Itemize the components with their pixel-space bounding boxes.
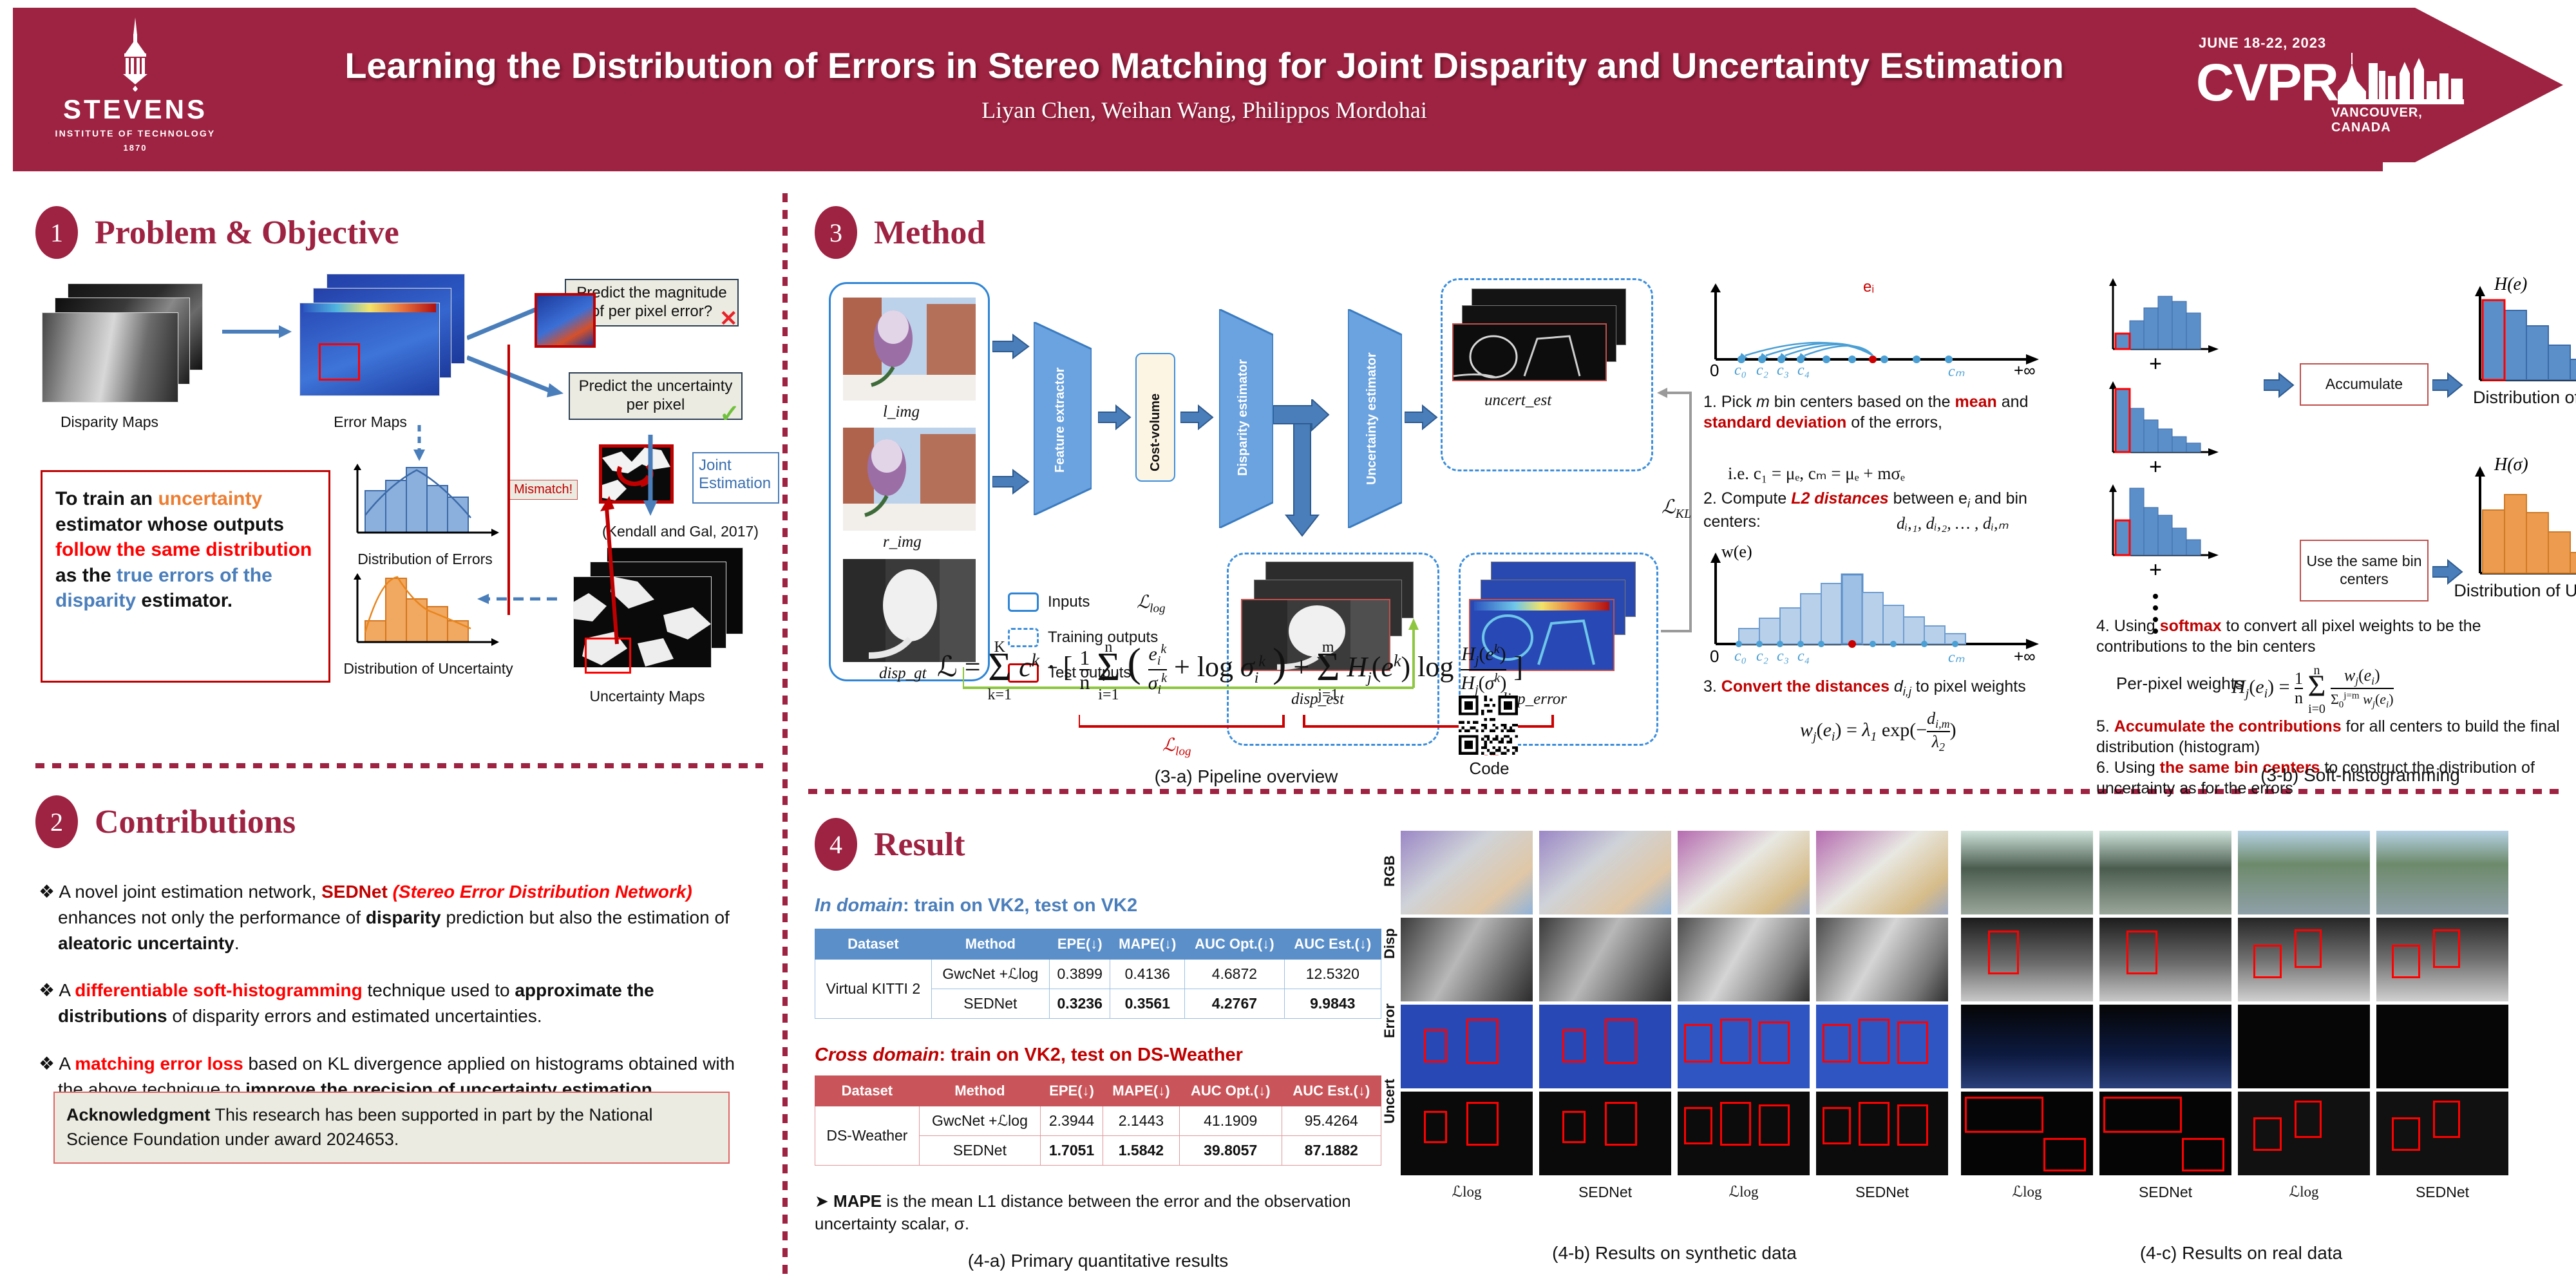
thumb-disp-s1 <box>1401 918 1533 1001</box>
svg-text:+: + <box>2149 455 2162 479</box>
row-label-disp: Disp <box>1381 911 1398 976</box>
mape-marker: ➤ <box>815 1191 829 1211</box>
caption-real-results: (4-c) Results on real data <box>1967 1243 2515 1264</box>
bullet-0-seg-4: disparity <box>366 907 441 927</box>
arrow-to-accumulate-icon <box>2264 372 2295 398</box>
bullet-marker: ❖ <box>39 882 59 902</box>
thumb-disp-s2 <box>1539 918 1671 1001</box>
soft-hist-step-5: 5. Accumulate the contributions for all … <box>2096 716 2576 757</box>
error-maps-stack <box>299 274 473 412</box>
thumb-uncert-r3 <box>2238 1092 2370 1175</box>
horizontal-divider-1 <box>35 763 763 768</box>
col-label-0: ℒlog <box>1401 1184 1533 1200</box>
table-row: DS-Weather GwcNet +ℒlog 2.3944 2.1443 41… <box>815 1106 1381 1136</box>
table2-r1-v3: 87.1882 <box>1282 1136 1381 1166</box>
table2-r1-v2: 39.8057 <box>1179 1136 1282 1166</box>
header-text-block: Learning the Distribution of Errors in S… <box>232 46 2196 124</box>
table2-r1-method: SEDNet <box>919 1136 1040 1166</box>
svg-text:+: + <box>2149 352 2162 376</box>
loss-log-underlabel: ℒlog <box>1162 734 1191 759</box>
bullet-0-seg-5: prediction but also the estimation of <box>441 907 730 927</box>
thumb-rgb-r1 <box>1961 831 2093 914</box>
chart-uncertainty-caption: Distribution of Uncertainty <box>338 660 518 677</box>
caption-quantitative-results: (4-a) Primary quantitative results <box>853 1251 1343 1271</box>
section4-number: 4 <box>815 818 857 871</box>
step-1-seg-0: Pick <box>1721 393 1756 411</box>
vancouver-skyline-icon <box>2338 52 2473 104</box>
step-1-seg-5: standard deviation <box>1703 413 1846 431</box>
thumb-uncert-s1 <box>1401 1092 1533 1175</box>
arrow-limg-icon <box>992 332 1030 361</box>
thumb-uncert-r4 <box>2376 1092 2508 1175</box>
goal-p5: as the <box>55 565 117 586</box>
bullet-1-seg-0: A <box>59 980 75 1000</box>
disp-gt-caption: disp_gt <box>879 665 927 683</box>
thumb-rgb-s3 <box>1678 831 1810 914</box>
thumb-error-r1 <box>1961 1005 2093 1088</box>
thumb-error-s1 <box>1401 1005 1533 1088</box>
disparity-maps-stack <box>42 283 209 412</box>
soft-hist-step-2: 2. Compute L2 distances between ei and b… <box>1703 488 2077 532</box>
section3-heading: 3 Method <box>815 206 985 259</box>
caption-pipeline-overview: (3-a) Pipeline overview <box>1085 766 1407 787</box>
bullet-0-seg-1: SEDNet <box>321 882 392 902</box>
section4-heading: 4 Result <box>815 818 965 871</box>
step-number-2: 2. <box>1703 489 1721 507</box>
objective-text-box: To train an uncertainty estimator whose … <box>41 470 330 683</box>
axis-tick-c2-top: c₂ <box>1756 362 1768 379</box>
code-label: Code <box>1443 759 1536 779</box>
table-in-domain: Dataset Method EPE(↓) MAPE(↓) AUC Opt.(↓… <box>815 929 1381 1019</box>
poster-header: STEVENS INSTITUTE OF TECHNOLOGY 1870 Lea… <box>13 8 2563 162</box>
thumb-error-r4 <box>2376 1005 2508 1088</box>
thumb-uncert-s3 <box>1678 1092 1810 1175</box>
section1-heading: 1 Problem & Objective <box>35 206 399 259</box>
accumulate-box: Accumulate <box>2300 363 2429 406</box>
arrow-split-icon <box>1273 399 1347 541</box>
goal-uncertainty: uncertainty <box>158 488 262 509</box>
table1-header-row: Dataset Method EPE(↓) MAPE(↓) AUC Opt.(↓… <box>815 929 1381 960</box>
table2-th-3: MAPE(↓) <box>1103 1076 1180 1106</box>
table-cross-domain: Dataset Method EPE(↓) MAPE(↓) AUC Opt.(↓… <box>815 1075 1381 1166</box>
check-mark-icon: ✓ <box>719 399 740 428</box>
section4-title: Result <box>874 826 965 864</box>
table1-r1-v0: 0.3236 <box>1050 989 1110 1019</box>
step-number-1: 1. <box>1703 393 1721 411</box>
dist-uncert-label: Distribution of Uncertainty <box>2438 581 2576 601</box>
table2-th-1: Method <box>919 1076 1040 1106</box>
thumb-disp-r3 <box>2238 918 2370 1001</box>
chart-h-sigma <box>2463 464 2576 596</box>
bin-centers-axis-chart <box>1700 283 2048 390</box>
chart-h-e <box>2463 283 2576 402</box>
step-6-seg-0: Using <box>2114 759 2160 777</box>
section2-title: Contributions <box>95 803 296 841</box>
list-item: ❖ A differentiable soft-histogramming te… <box>39 978 760 1029</box>
chart-distribution-uncertainty <box>345 573 506 663</box>
goal-p1: To train an <box>55 488 158 509</box>
col-label-5: SEDNet <box>2099 1184 2231 1201</box>
caption-synthetic-results: (4-b) Results on synthetic data <box>1394 1243 1955 1264</box>
thumb-rgb-r4 <box>2376 831 2508 914</box>
h-e-label: H(e) <box>2494 274 2527 295</box>
loss-kl-label: ℒKL <box>1662 496 1691 522</box>
table1-r0-v0: 0.3899 <box>1050 960 1110 989</box>
table2-header-row: Dataset Method EPE(↓) MAPE(↓) AUC Opt.(↓… <box>815 1076 1381 1106</box>
contributions-list: ❖ A novel joint estimation network, SEDN… <box>39 879 760 1124</box>
bullet-2-seg-1: matching error loss <box>75 1054 243 1074</box>
step-2-seg-0: Compute <box>1721 489 1791 507</box>
uncert-est-thumb-1 <box>1452 323 1607 381</box>
feature-extractor-label: Feature extractor <box>1053 349 1067 491</box>
col-label-7: SEDNet <box>2376 1184 2508 1201</box>
col-label-6: ℒlog <box>2238 1184 2370 1200</box>
table1-r0-method: GwcNet +ℒlog <box>931 960 1049 989</box>
joint-estimation-label: Joint Estimation <box>699 457 771 492</box>
cvpr-city: VANCOUVER, CANADA <box>2331 106 2467 135</box>
bullet-marker: ❖ <box>39 1054 59 1074</box>
cvpr-logo: JUNE 18-22, 2023 CVPR VANCOUVER, CANADA <box>2196 35 2467 135</box>
step3-formula: wj(ei) = λ1 exp(−di,mλ2) <box>1800 710 1956 753</box>
axis-tick-c3-bottom: c₃ <box>1777 648 1789 665</box>
bullet-0-seg-0: A novel joint estimation network, <box>59 882 321 902</box>
step2-formula: dᵢ,₁, dᵢ,₂, … , dᵢ,ₘ <box>1897 514 2009 533</box>
goal-follow: follow the same distribution <box>55 539 312 560</box>
step-4-seg-0: Using <box>2114 617 2160 635</box>
thumb-error-s3 <box>1678 1005 1810 1088</box>
thumb-rgb-s2 <box>1539 831 1671 914</box>
section3-title: Method <box>874 214 985 252</box>
vertical-divider-1 <box>782 193 788 1282</box>
step-number-3: 3. <box>1703 677 1721 696</box>
step-1-seg-1: m <box>1756 393 1770 411</box>
table2-r0-v1: 2.1443 <box>1103 1106 1180 1136</box>
thumb-error-s4 <box>1816 1005 1948 1088</box>
bullet-2-seg-0: A <box>59 1054 75 1074</box>
section-problem-objective: 1 Problem & Objective Disparity Maps Err… <box>35 206 770 734</box>
thumb-uncert-r2 <box>2099 1092 2231 1175</box>
table2-r0-v3: 95.4264 <box>1282 1106 1381 1136</box>
stevens-name: STEVENS <box>63 94 207 125</box>
table1-th-4: AUC Opt.(↓) <box>1185 929 1284 960</box>
thumb-error-r3 <box>2238 1005 2370 1088</box>
bullet-1-seg-4: of disparity errors and estimated uncert… <box>167 1006 542 1026</box>
uncertainty-maps-caption: Uncertainty Maps <box>573 688 721 705</box>
col-label-1: SEDNet <box>1539 1184 1671 1201</box>
col-label-4: ℒlog <box>1961 1184 2093 1200</box>
table1-title-rest: : train on VK2, test on VK2 <box>903 895 1137 916</box>
bullet-0-seg-6: aleatoric uncertainty <box>58 933 234 953</box>
step-3-seg-0: Convert the distances <box>1721 677 1889 696</box>
thumb-disp-r4 <box>2376 918 2508 1001</box>
section3-number: 3 <box>815 206 857 259</box>
stevens-year: 1870 <box>124 143 147 153</box>
main-loss-equation: ℒ = KΣk=1 ck · [ 1n nΣi=1 ( eikσik + log… <box>937 636 1523 703</box>
mismatch-badge: Mismatch! <box>509 480 578 500</box>
step4-formula: Hj(ei) = 1n nΣi=0 wj(ei)Σ0j=m wj(ei) <box>2231 661 2394 716</box>
arrow-to-costvolume-icon <box>1098 404 1132 430</box>
mape-note: ➤ MAPE is the mean L1 distance between t… <box>815 1190 1362 1235</box>
axis-tick-c4-bottom: c₄ <box>1797 648 1810 665</box>
axis-tick-c4-top: c₄ <box>1797 362 1810 379</box>
table1-th-1: Method <box>931 929 1049 960</box>
table1-th-2: EPE(↓) <box>1050 929 1110 960</box>
table2-r1-v1: 1.5842 <box>1103 1136 1180 1166</box>
step-2-seg-1: L2 distances <box>1791 489 1888 507</box>
thumb-disp-s3 <box>1678 918 1810 1001</box>
section2-number: 2 <box>35 795 78 848</box>
stevens-logo: STEVENS INSTITUTE OF TECHNOLOGY 1870 <box>39 17 232 153</box>
dashed-arrow-mismatch-icon <box>473 592 563 605</box>
same-bins-box: Use the same bin centers <box>2300 540 2429 601</box>
red-zoom-arrow-icon <box>586 489 638 647</box>
stevens-subtitle: INSTITUTE OF TECHNOLOGY <box>55 128 216 138</box>
table2-th-5: AUC Est.(↓) <box>1282 1076 1381 1106</box>
table1-r1-v3: 9.9843 <box>1284 989 1381 1019</box>
step-number-5: 5. <box>2096 717 2114 735</box>
goal-p7: estimator. <box>136 590 232 611</box>
thumb-disp-s4 <box>1816 918 1948 1001</box>
table1-th-0: Dataset <box>815 929 932 960</box>
arrow-disparity-to-error-icon <box>222 322 293 341</box>
section-result: 4 Result In domain: train on VK2, test o… <box>815 805 2566 1282</box>
loss-log-label-top: ℒlog <box>1137 591 1165 616</box>
predict-uncertainty-box: Predict the uncertainty per pixel <box>569 372 743 420</box>
thumb-uncert-s2 <box>1539 1092 1671 1175</box>
table2-r0-v2: 41.1909 <box>1179 1106 1282 1136</box>
table1-dataset: Virtual KITTI 2 <box>815 960 932 1019</box>
header-stripe <box>13 162 2383 171</box>
axis-zero-bottom: 0 <box>1710 647 1719 667</box>
section1-title: Problem & Objective <box>95 214 399 252</box>
table2-th-4: AUC Opt.(↓) <box>1179 1076 1282 1106</box>
chart-errors-caption: Distribution of Errors <box>345 551 506 568</box>
r-img-caption: r_img <box>883 533 922 551</box>
thumb-error-r2 <box>2099 1005 2231 1088</box>
svg-text:+: + <box>2149 558 2162 582</box>
axis-tick-c0-bottom: c₀ <box>1734 648 1747 665</box>
table2-title-rest: : train on VK2, test on DS-Weather <box>939 1045 1243 1065</box>
step-number-4: 4. <box>2096 617 2114 635</box>
axis-inf-top: +∞ <box>2014 361 2036 381</box>
table1-r0-v3: 12.5320 <box>1284 960 1381 989</box>
table2-title: Cross domain: train on VK2, test on DS-W… <box>815 1045 1243 1066</box>
soft-hist-step-1: 1. Pick m bin centers based on the mean … <box>1703 392 2077 433</box>
thumb-rgb-s4 <box>1816 831 1948 914</box>
table2-th-0: Dataset <box>815 1076 920 1106</box>
author-list: Liyan Chen, Weihan Wang, Philippos Mordo… <box>232 97 2177 124</box>
thumb-rgb-r3 <box>2238 831 2370 914</box>
step-1-seg-6: of the errors, <box>1846 413 1942 431</box>
section2-heading: 2 Contributions <box>35 795 296 848</box>
row-label-rgb: RGB <box>1381 840 1398 902</box>
arrow-rimg-icon <box>992 468 1030 496</box>
table2-r0-v0: 2.3944 <box>1041 1106 1103 1136</box>
qr-code[interactable] <box>1459 696 1518 758</box>
step-4-seg-1: softmax <box>2160 617 2222 635</box>
step-1-seg-2: bin centers based on the <box>1770 393 1955 411</box>
goal-p3: estimator whose outputs <box>55 514 284 535</box>
table1-th-5: AUC Est.(↓) <box>1284 929 1381 960</box>
table2-r1-v0: 1.7051 <box>1041 1136 1103 1166</box>
axis-tick-c2-bottom: c₂ <box>1756 648 1768 665</box>
step-number-6: 6. <box>2096 759 2114 777</box>
mismatch-connector-icon <box>502 345 515 615</box>
bullet-0-seg-3: enhances not only the performance of <box>58 907 366 927</box>
left-image-thumb <box>843 298 976 401</box>
step-5-seg-0: Accumulate the contributions <box>2114 717 2342 735</box>
thumb-uncert-s4 <box>1816 1092 1948 1175</box>
arrow-down-joint-icon <box>641 435 660 518</box>
col-label-2: ℒlog <box>1678 1184 1810 1200</box>
bullet-marker: ❖ <box>39 980 59 1000</box>
axis-tick-c3-top: c₃ <box>1777 362 1789 379</box>
uncert-est-caption: uncert_est <box>1484 392 1551 410</box>
table1-r1-v1: 0.3561 <box>1110 989 1185 1019</box>
bullet-1-seg-2: technique used to <box>363 980 515 1000</box>
table1-title: In domain: train on VK2, test on VK2 <box>815 895 1137 916</box>
disparity-estimator-label: Disparity estimator <box>1236 334 1250 501</box>
ei-axis-label: eᵢ <box>1863 278 1874 296</box>
section-method: 3 Method l_img r_img <box>815 206 2566 773</box>
axis-zero-top: 0 <box>1710 361 1719 381</box>
thumb-uncert-r1 <box>1961 1092 2093 1175</box>
table2-title-italic: Cross domain <box>815 1045 939 1065</box>
table1-th-3: MAPE(↓) <box>1110 929 1185 960</box>
cross-mark-icon: ✕ <box>719 306 738 332</box>
table2-r0-method: GwcNet +ℒlog <box>919 1106 1040 1136</box>
uncertainty-estimator-label: Uncertainty estimator <box>1365 330 1379 507</box>
arrow-to-uncertest-icon <box>1405 404 1438 430</box>
axis-tick-cm-top: cₘ <box>1948 362 1965 381</box>
page-title: Learning the Distribution of Errors in S… <box>232 46 2177 85</box>
we-axis-label: w(e) <box>1721 542 1752 562</box>
cost-volume-label: Cost-volume <box>1148 368 1163 471</box>
section-contributions: 2 Contributions ❖ A novel joint estimati… <box>35 782 770 1259</box>
row-label-uncert: Uncert <box>1381 1066 1398 1137</box>
we-weight-chart <box>1700 546 2048 672</box>
thumb-error-s2 <box>1539 1005 1671 1088</box>
table1-title-italic: In domain <box>815 895 903 916</box>
cvpr-wordmark: CVPR <box>2196 61 2338 104</box>
arrow-to-dispest-icon <box>1180 404 1214 430</box>
section1-number: 1 <box>35 206 78 259</box>
col-label-3: SEDNet <box>1816 1184 1948 1201</box>
step-3-seg-3: to pixel weights <box>1911 677 2026 696</box>
table2-th-2: EPE(↓) <box>1041 1076 1103 1106</box>
mape-bold: MAPE <box>833 1191 882 1211</box>
h-sigma-label: H(σ) <box>2494 455 2528 475</box>
acknowledgment-label: Acknowledgment <box>66 1105 211 1124</box>
step1-formula: i.e. c₁ = μₑ, cₘ = μₑ + mσₑ <box>1728 464 1905 484</box>
bullet-0-seg-2: (Stereo Error Distribution Network) <box>393 882 692 902</box>
step-2-seg-2: between e <box>1889 489 1967 507</box>
axis-inf-bottom: +∞ <box>2014 647 2036 667</box>
table2-dataset: DS-Weather <box>815 1106 920 1166</box>
cvpr-date: JUNE 18-22, 2023 <box>2199 35 2326 52</box>
thumb-rgb-r2 <box>2099 831 2231 914</box>
l-img-caption: l_img <box>883 403 920 421</box>
dist-errors-label: Distribution of Errors <box>2449 388 2576 408</box>
arrow-down-errorhist-icon <box>412 425 426 464</box>
error-zoom-crop <box>535 293 596 348</box>
thumb-rgb-s1 <box>1401 831 1533 914</box>
thumb-disp-r2 <box>2099 918 2231 1001</box>
axis-tick-cm-bottom: cₘ <box>1948 648 1965 667</box>
mape-text: is the mean L1 distance between the erro… <box>815 1191 1351 1233</box>
table1-r1-v2: 4.2767 <box>1185 989 1284 1019</box>
step-3-seg-2: i,j <box>1903 685 1911 698</box>
step-1-seg-3: mean <box>1955 393 1997 411</box>
bullet-1-seg-1: differentiable soft-histogramming <box>75 980 362 1000</box>
step-3-seg-1: d <box>1889 677 1903 696</box>
chart-distribution-errors <box>345 464 506 554</box>
caption-soft-histogramming: (3-b) Soft-histogramming <box>2180 765 2541 786</box>
table-row: Virtual KITTI 2 GwcNet +ℒlog 0.3899 0.41… <box>815 960 1381 989</box>
row-label-error: Error <box>1381 989 1398 1053</box>
soft-hist-step-4: 4. Using softmax to convert all pixel we… <box>2096 616 2573 657</box>
bullet-0-seg-7: . <box>234 933 240 953</box>
acknowledgment-box: Acknowledgment This research has been su… <box>53 1092 730 1164</box>
table1-r0-v1: 0.4136 <box>1110 960 1185 989</box>
thumb-disp-r1 <box>1961 918 2093 1001</box>
table1-r0-v2: 4.6872 <box>1185 960 1284 989</box>
table1-r1-method: SEDNet <box>931 989 1049 1019</box>
axis-tick-c0-top: c₀ <box>1734 362 1747 379</box>
step-1-seg-4: and <box>1997 393 2029 411</box>
stevens-tower-icon <box>100 17 171 91</box>
right-image-thumb <box>843 428 976 531</box>
joint-estimation-box: Joint Estimation <box>692 452 779 504</box>
list-item: ❖ A novel joint estimation network, SEDN… <box>39 879 760 956</box>
disparity-maps-caption: Disparity Maps <box>42 413 177 431</box>
soft-hist-step-3: 3. Convert the distances di,j to pixel w… <box>1703 676 2090 699</box>
